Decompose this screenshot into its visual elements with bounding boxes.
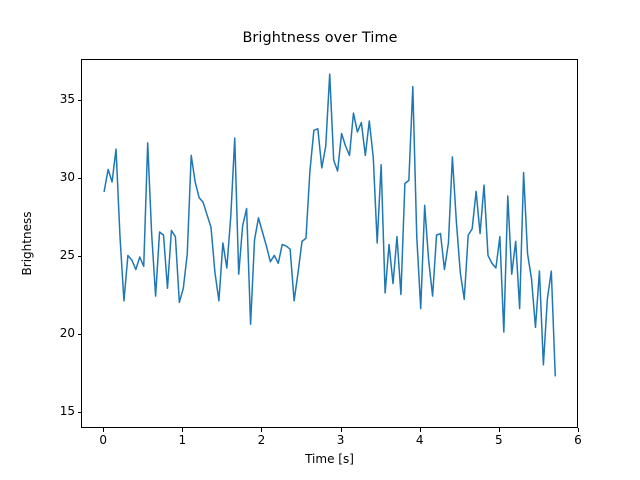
y-tick-label: 20	[35, 326, 75, 340]
x-tick-label: 3	[321, 433, 361, 447]
x-axis-label: Time [s]	[81, 452, 578, 466]
x-tick-label: 5	[479, 433, 519, 447]
x-tick-label: 1	[162, 433, 202, 447]
y-axis-label-container: Brightness	[0, 59, 40, 428]
y-tick-label: 35	[35, 92, 75, 106]
x-tick-label: 0	[83, 433, 123, 447]
data-series-line-brightness	[104, 74, 555, 376]
y-tick-label: 15	[35, 404, 75, 418]
y-tick-label: 30	[35, 170, 75, 184]
y-tick-label: 25	[35, 248, 75, 262]
plot-area	[81, 59, 578, 428]
plot-canvas	[82, 60, 579, 429]
x-tick-label: 2	[241, 433, 281, 447]
x-tick-label: 4	[400, 433, 440, 447]
y-axis-label: Brightness	[20, 59, 34, 428]
x-tick-label: 6	[558, 433, 598, 447]
chart-title: Brightness over Time	[0, 30, 640, 46]
matplotlib-figure: Brightness over Time Brightness Time [s]…	[0, 0, 640, 480]
